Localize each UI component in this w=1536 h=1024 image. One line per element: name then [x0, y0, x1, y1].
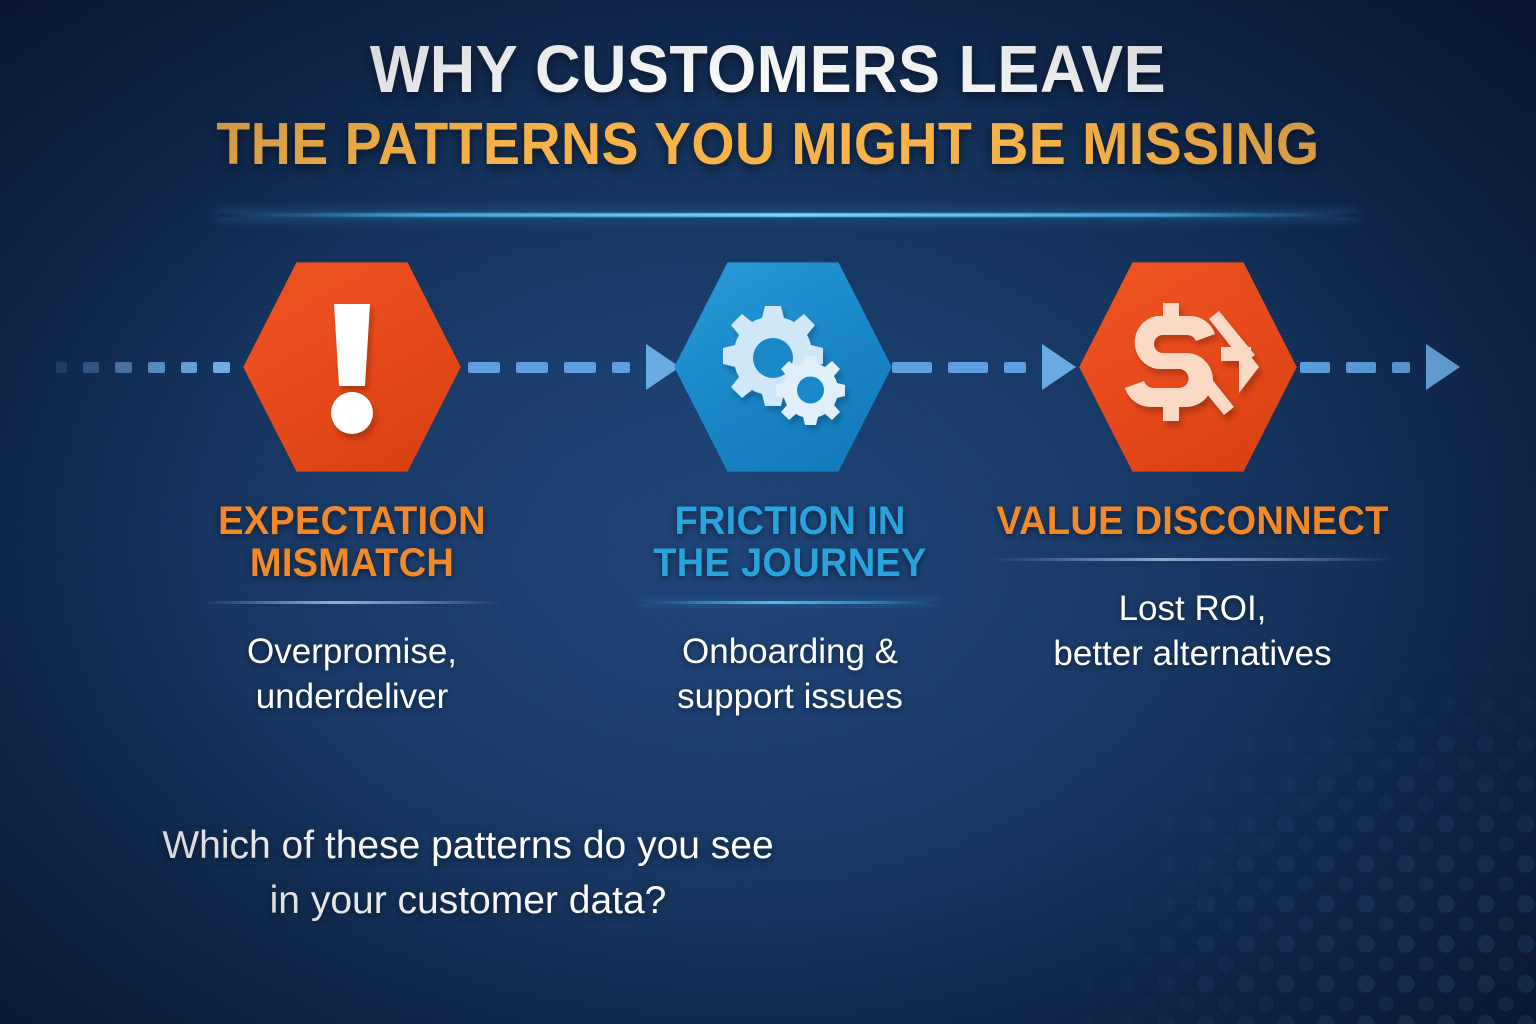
title-block: WHY CUSTOMERS LEAVE THE PATTERNS YOU MIG… — [0, 36, 1536, 175]
step-3-divider — [993, 558, 1393, 561]
dollar-declining-arrow-icon — [1117, 303, 1259, 431]
step-1-title-line1: EXPECTATION — [181, 500, 523, 542]
flow-arrowhead-2 — [1042, 344, 1076, 390]
step-2-hexagon[interactable] — [672, 258, 894, 476]
step-1-body-line2: underdeliver — [172, 675, 532, 720]
flow-connector-1 — [468, 351, 680, 383]
step-2-body-line2: support issues — [600, 675, 980, 720]
step-3-body-line2: better alternatives — [985, 632, 1400, 677]
step-2-title: FRICTION IN THE JOURNEY — [610, 500, 971, 585]
infographic-canvas: WHY CUSTOMERS LEAVE THE PATTERNS YOU MIG… — [0, 0, 1536, 1024]
step-3-body-line1: Lost ROI, — [985, 587, 1400, 632]
flow-connector-intro — [56, 351, 246, 383]
flow-connector-3 — [1300, 351, 1460, 383]
closing-question-line2: in your customer data? — [88, 873, 848, 928]
page-subtitle: THE PATTERNS YOU MIGHT BE MISSING — [46, 114, 1490, 174]
step-3-column: VALUE DISCONNECT Lost ROI, better altern… — [985, 500, 1400, 677]
step-1-divider — [202, 601, 502, 604]
flow-connector-2 — [892, 351, 1084, 383]
step-2-divider — [640, 601, 940, 604]
page-title: WHY CUSTOMERS LEAVE — [46, 36, 1490, 104]
title-divider — [218, 213, 1358, 217]
step-2-body: Onboarding & support issues — [600, 630, 980, 720]
step-1-hexagon[interactable] — [241, 258, 463, 476]
step-3-title-line1: VALUE DISCONNECT — [995, 500, 1389, 542]
step-3-title: VALUE DISCONNECT — [995, 500, 1389, 542]
step-1-column: EXPECTATION MISMATCH Overpromise, underd… — [172, 500, 532, 719]
step-2-title-line1: FRICTION IN — [610, 500, 971, 542]
step-3-body: Lost ROI, better alternatives — [985, 587, 1400, 677]
step-1-title: EXPECTATION MISMATCH — [181, 500, 523, 585]
process-flow-row — [0, 258, 1536, 478]
gears-icon — [715, 304, 851, 430]
step-2-body-line1: Onboarding & — [600, 630, 980, 675]
closing-question-line1: Which of these patterns do you see — [88, 818, 848, 873]
flow-arrowhead-3 — [1426, 344, 1460, 390]
closing-question: Which of these patterns do you see in yo… — [88, 818, 848, 929]
step-1-body: Overpromise, underdeliver — [172, 630, 532, 720]
exclamation-mark-icon — [306, 300, 398, 434]
step-1-body-line1: Overpromise, — [172, 630, 532, 675]
step-3-hexagon[interactable] — [1077, 258, 1299, 476]
step-2-column: FRICTION IN THE JOURNEY Onboarding & sup… — [600, 500, 980, 719]
step-1-title-line2: MISMATCH — [181, 542, 523, 584]
step-2-title-line2: THE JOURNEY — [610, 542, 971, 584]
